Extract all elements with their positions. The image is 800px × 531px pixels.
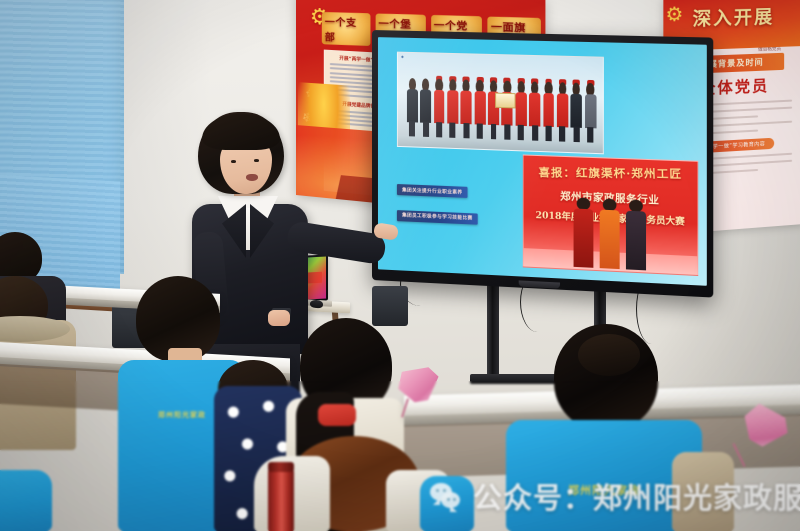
attendee-hair-bun	[578, 334, 640, 376]
thermos-cap[interactable]	[268, 462, 294, 472]
banner-slogan-cell-0: 一个支部	[322, 12, 370, 46]
wechat-icon	[430, 481, 464, 511]
presentation-display[interactable]: ◆	[372, 30, 713, 298]
poster-top-title: 深入开展	[693, 3, 775, 32]
award-plaque	[495, 93, 516, 109]
presenter-mouth	[246, 174, 258, 181]
slide-group-photo: ◆	[397, 52, 604, 154]
poster-emblem-icon: ⚙	[665, 3, 683, 26]
slide-ceremony-photo: 喜报：红旗渠杯·郑州工匠 郑州市家政服务行业 2018年度职业技能家政服务员大赛	[522, 154, 698, 276]
thermos-bottle[interactable]	[268, 468, 294, 531]
ceremony-banner-line-0: 喜报：红旗渠杯·郑州工匠	[523, 164, 697, 182]
slide-text-box-2: 集团员工积极参与学习技能比赛	[397, 210, 478, 225]
presenter-hair-fringe	[202, 114, 280, 150]
slide-photo-logo: ◆	[401, 55, 404, 59]
presenter-eye-right	[254, 159, 259, 162]
presenter-eye-left	[231, 160, 236, 163]
tv-bezel: ◆	[372, 30, 713, 298]
ceremony-people	[571, 197, 647, 270]
slide-text-box-1: 集团关注提升行业职业素养	[397, 184, 468, 198]
chair-back-2	[372, 286, 408, 326]
classroom-photo: ⚙ 一个支部 一个堡垒 一个党员 一面旗帜 ❄ ❄ 开展“两学一做”学习教育方案…	[0, 0, 800, 531]
watermark-text: 公众号：郑州阳光家政服务公司	[473, 475, 800, 517]
wechat-watermark: 公众号：郑州阳光家政服务公司	[430, 475, 800, 517]
tv-screen: ◆	[378, 37, 707, 286]
presenter-left-hand	[268, 310, 290, 326]
attendee-blue-vest-3	[0, 470, 52, 531]
attendee-red-scarf	[318, 404, 356, 426]
